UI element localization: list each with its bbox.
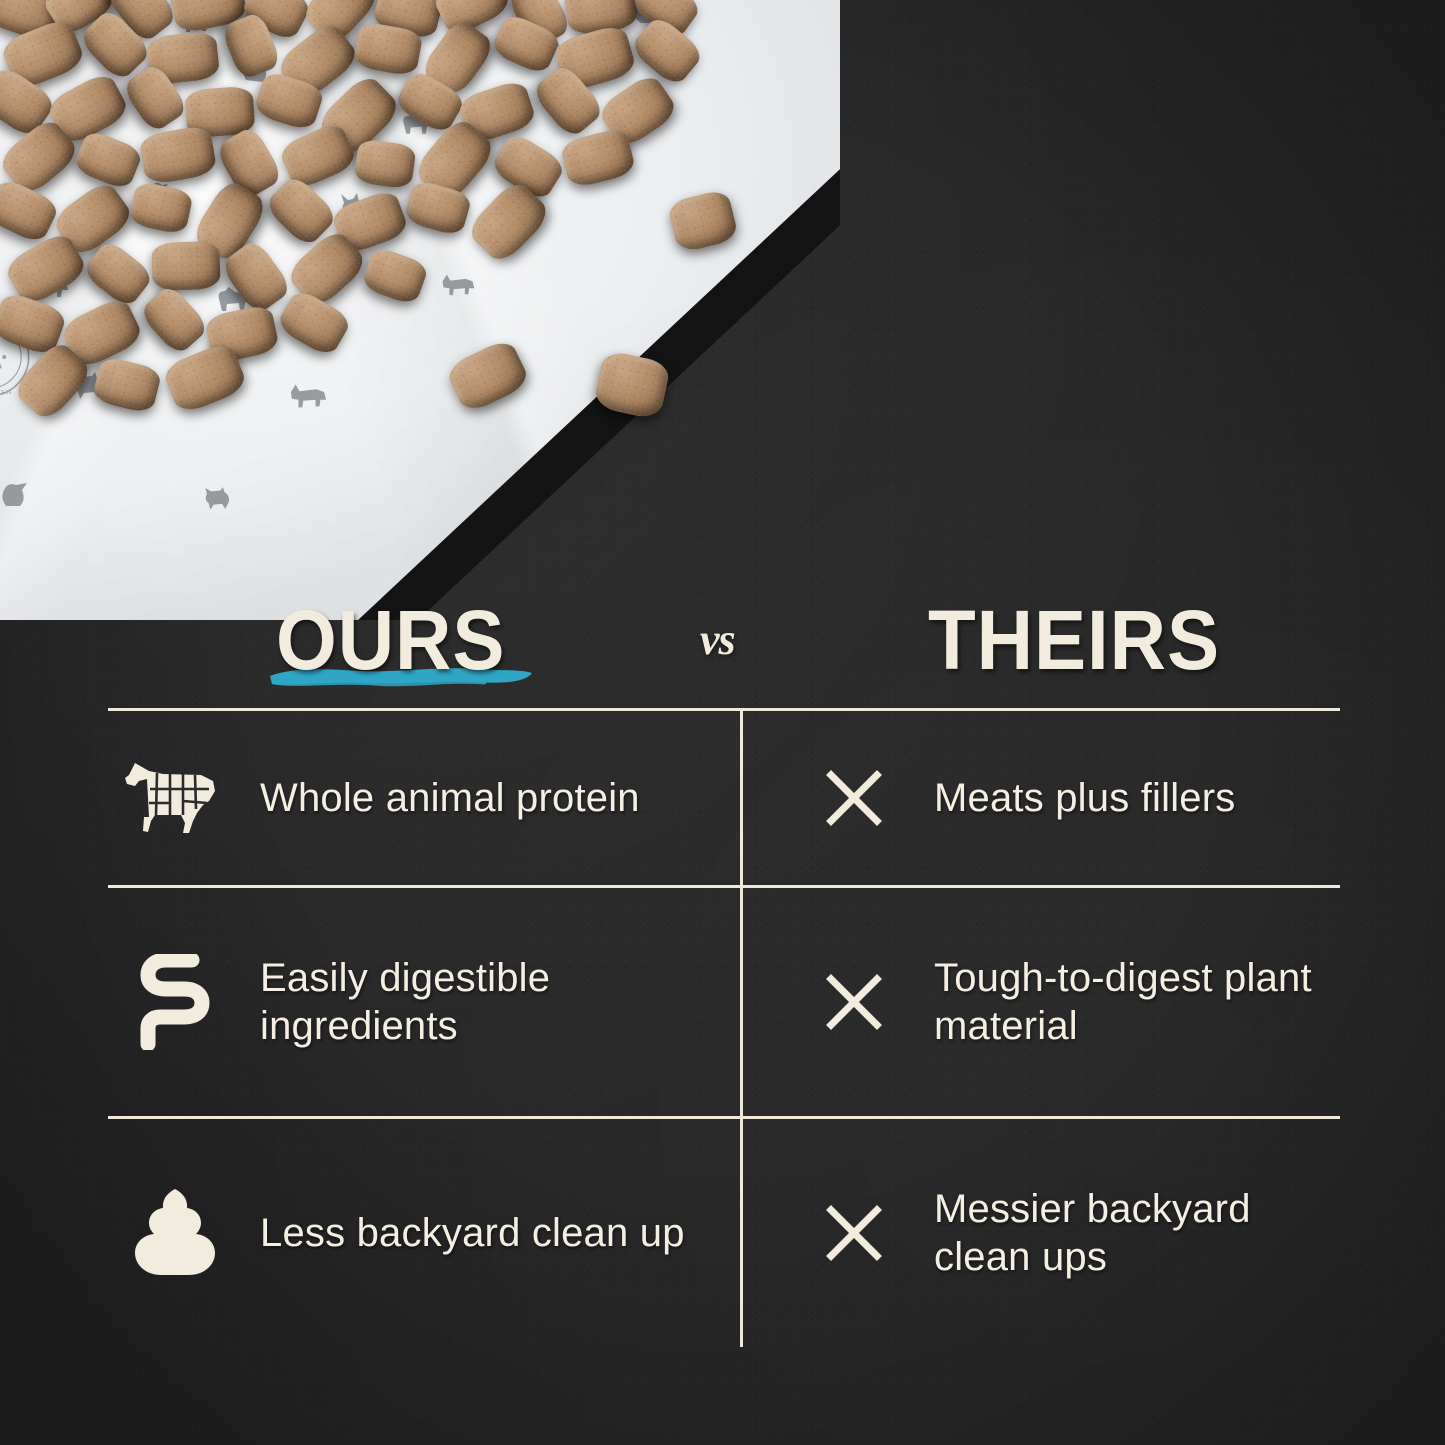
table-row: Less backyard clean up Messier backyard … <box>108 1119 1340 1347</box>
comparison-table: Whole animal protein Meats plus fillers <box>108 708 1340 1347</box>
cow-silhouette-icon <box>288 380 328 410</box>
cow-silhouette-icon <box>440 270 476 298</box>
comparison-section: OURS vs THEIRS <box>108 560 1340 1347</box>
icon-container <box>800 973 908 1031</box>
ours-text: Easily digestible ingredients <box>260 954 740 1050</box>
svg-text:100% PROTEIN: 100% PROTEIN <box>0 390 11 396</box>
table-row: Easily digestible ingredients Tough-to-d… <box>108 888 1340 1119</box>
column-divider <box>740 711 743 1347</box>
icon-container <box>800 769 908 827</box>
heading-ours: OURS <box>276 598 505 682</box>
theirs-text: Tough-to-digest plant material <box>934 954 1340 1050</box>
theirs-cell: Tough-to-digest plant material <box>740 888 1340 1116</box>
pig-silhouette-icon <box>202 485 232 511</box>
icon-container <box>116 1187 234 1279</box>
ours-text: Less backyard clean up <box>260 1209 685 1257</box>
poop-icon <box>127 1187 223 1279</box>
intestine-digestion-icon <box>136 954 214 1050</box>
comparison-headings: OURS vs THEIRS <box>108 560 1340 708</box>
theirs-cell: Meats plus fillers <box>740 711 1340 885</box>
x-mark-icon <box>825 1204 883 1262</box>
product-photo: ★ BUTCHER ★ 100% PROTEIN <box>0 0 840 620</box>
theirs-cell: Messier backyard clean ups <box>740 1119 1340 1347</box>
duck-silhouette-icon <box>0 480 30 508</box>
ours-cell: Less backyard clean up <box>108 1119 740 1347</box>
heading-vs: vs <box>700 618 735 662</box>
ours-cell: Easily digestible ingredients <box>108 888 740 1116</box>
heading-theirs: THEIRS <box>928 598 1220 682</box>
theirs-text: Messier backyard clean ups <box>934 1185 1340 1281</box>
table-row: Whole animal protein Meats plus fillers <box>108 711 1340 888</box>
icon-container <box>116 759 234 837</box>
x-mark-icon <box>825 769 883 827</box>
icon-container <box>116 954 234 1050</box>
cow-butcher-cut-icon <box>123 759 227 837</box>
comparison-infographic: ★ BUTCHER ★ 100% PROTEIN <box>0 0 1445 1445</box>
icon-container <box>800 1204 908 1262</box>
theirs-text: Meats plus fillers <box>934 774 1235 822</box>
x-mark-icon <box>825 973 883 1031</box>
ours-text: Whole animal protein <box>260 774 640 822</box>
ours-cell: Whole animal protein <box>108 711 740 885</box>
